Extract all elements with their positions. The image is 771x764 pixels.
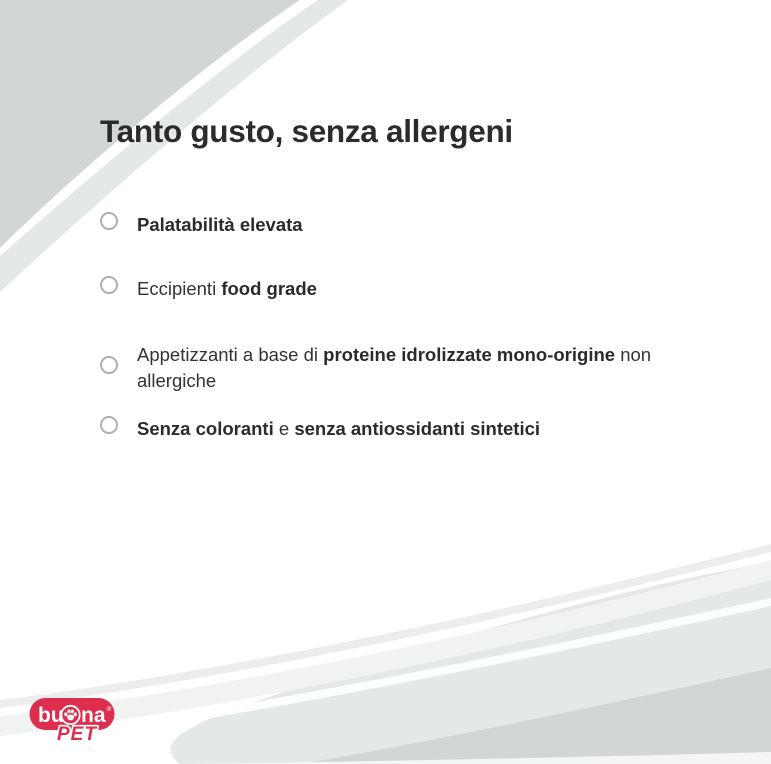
list-item-label: Eccipienti food grade — [137, 276, 700, 302]
list-item-label: Senza coloranti e senza antiossidanti si… — [137, 416, 700, 442]
circle-outline-marker-icon — [100, 276, 118, 294]
list-item: Palatabilità elevata — [100, 212, 700, 254]
list-item-label: Palatabilità elevata — [137, 212, 700, 238]
circle-outline-marker-icon — [100, 212, 118, 230]
buona-pet-logo: bu na ® PET — [29, 697, 119, 743]
list-item: Appetizzanti a base di proteine idrolizz… — [100, 342, 700, 394]
logo-registered-mark: ® — [107, 705, 112, 713]
logo-tagline: PET — [57, 724, 97, 743]
list-item: Senza coloranti e senza antiossidanti si… — [100, 416, 700, 458]
list-item: Eccipienti food grade — [100, 276, 700, 318]
page-title: Tanto gusto, senza allergeni — [100, 113, 720, 151]
slide-canvas: Tanto gusto, senza allergeni Palatabilit… — [0, 0, 771, 764]
slide-content: Tanto gusto, senza allergeni Palatabilit… — [0, 0, 771, 764]
circle-outline-marker-icon — [100, 416, 118, 434]
bullet-list: Palatabilità elevata Eccipienti food gra… — [100, 212, 700, 458]
circle-outline-marker-icon — [100, 356, 118, 374]
list-item-label: Appetizzanti a base di proteine idrolizz… — [137, 342, 700, 394]
